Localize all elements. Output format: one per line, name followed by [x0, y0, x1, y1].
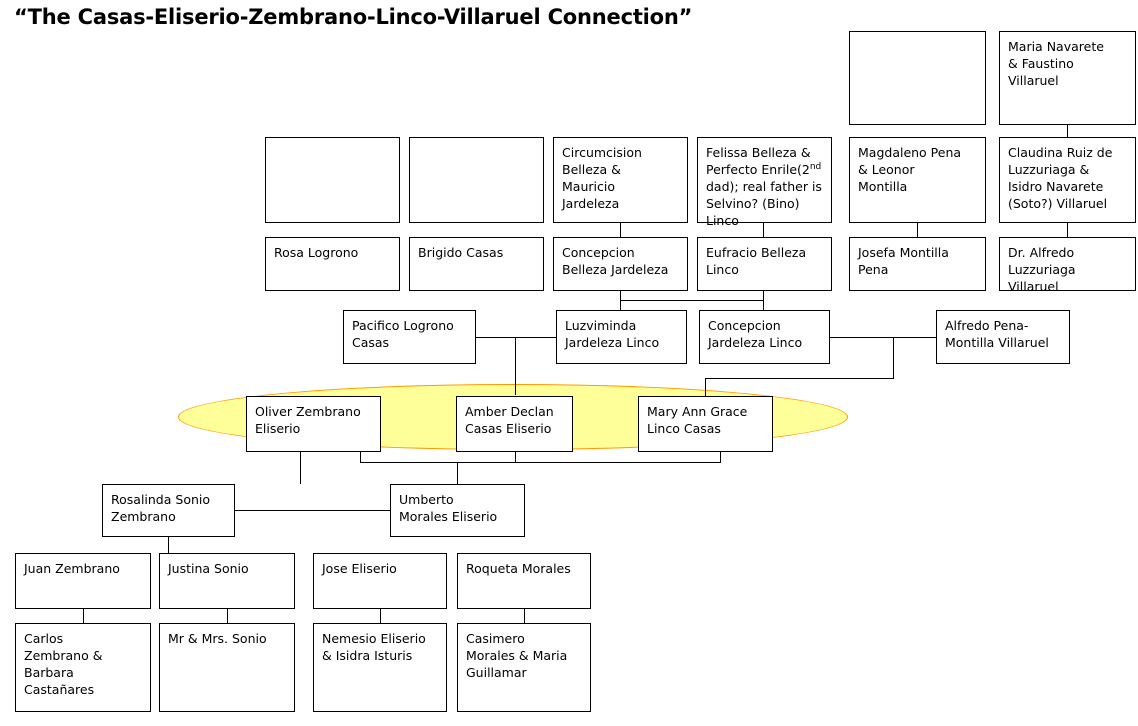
family-tree-canvas: “The Casas-Eliserio-Zembrano-Linco-Villa… — [0, 0, 1138, 726]
node-umberto-morales-eliserio[interactable]: Umberto Morales Eliserio — [390, 484, 525, 537]
node-mr-mrs-sonio[interactable]: Mr & Mrs. Sonio — [159, 623, 295, 712]
node-eufracio-belleza-linco[interactable]: Eufracio Belleza Linco — [697, 237, 832, 291]
node-claudina-ruiz[interactable]: Claudina Ruiz de Luzzuriaga & Isidro Nav… — [999, 137, 1136, 223]
node-carlos-zembrano-barbara[interactable]: Carlos Zembrano & Barbara Castañares — [15, 623, 151, 712]
connector-line — [620, 300, 764, 301]
connector-line — [83, 609, 84, 623]
connector-line — [380, 609, 381, 623]
node-josefa-montilla-pena[interactable]: Josefa Montilla Pena — [849, 237, 986, 291]
node-magdaleno-pena[interactable]: Magdaleno Pena & Leonor Montilla — [849, 137, 986, 223]
node-amber-declan-casas-eliserio[interactable]: Amber Declan Casas Eliserio — [456, 396, 573, 452]
felissa-text-pre: Felissa Belleza & Perfecto Enrile(2 — [706, 145, 811, 177]
connector-line — [300, 452, 301, 484]
connector-line — [227, 609, 228, 623]
felissa-ordinal-superscript: nd — [810, 162, 821, 172]
node-pacifico-logrono-casas[interactable]: Pacifico Logrono Casas — [343, 310, 476, 364]
node-brigido-casas[interactable]: Brigido Casas — [409, 237, 544, 291]
node-rosa-logrono[interactable]: Rosa Logrono — [265, 237, 400, 291]
connector-line — [620, 300, 621, 310]
connector-line — [524, 609, 525, 623]
connector-line — [235, 510, 390, 511]
node-empty-top-left[interactable] — [849, 31, 986, 125]
connector-line — [360, 452, 361, 463]
connector-line — [705, 378, 894, 379]
node-concepcion-belleza-jardeleza[interactable]: Concepcion Belleza Jardeleza — [553, 237, 688, 291]
connector-line — [763, 300, 764, 310]
connector-line — [360, 462, 720, 463]
connector-line — [457, 462, 458, 484]
node-maria-faustino[interactable]: Maria Navarete & Faustino Villaruel — [999, 31, 1136, 125]
connector-line — [917, 223, 918, 237]
connector-line — [620, 223, 621, 237]
felissa-text-post: dad); real father is Selvino? (Bino) Lin… — [706, 179, 822, 228]
connector-line — [1067, 223, 1068, 237]
connector-line — [720, 452, 721, 463]
connector-line — [476, 337, 556, 338]
node-oliver-zembrano-eliserio[interactable]: Oliver Zembrano Eliserio — [246, 396, 381, 452]
node-jose-eliserio[interactable]: Jose Eliserio — [313, 553, 447, 609]
node-rosalinda-sonio-zembrano[interactable]: Rosalinda Sonio Zembrano — [102, 484, 235, 537]
page-title: “The Casas-Eliserio-Zembrano-Linco-Villa… — [14, 5, 692, 29]
connector-line — [763, 223, 764, 237]
node-nemesio-eliserio-isidra[interactable]: Nemesio Eliserio & Isidra Isturis — [313, 623, 447, 712]
node-casimero-morales-maria[interactable]: Casimero Morales & Maria Guillamar — [457, 623, 591, 712]
connector-line — [893, 337, 894, 378]
node-empty-row2-b[interactable] — [409, 137, 544, 223]
node-concepcion-jardeleza-linco[interactable]: Concepcion Jardeleza Linco — [699, 310, 830, 364]
connector-line — [705, 378, 706, 396]
node-empty-row2-a[interactable] — [265, 137, 400, 223]
connector-line — [515, 337, 516, 395]
node-alfredo-pena-montilla[interactable]: Alfredo Pena- Montilla Villaruel — [936, 310, 1070, 364]
node-juan-zembrano[interactable]: Juan Zembrano — [15, 553, 151, 609]
node-mary-ann-grace-linco-casas[interactable]: Mary Ann Grace Linco Casas — [638, 396, 773, 452]
node-felissa-belleza[interactable]: Felissa Belleza & Perfecto Enrile(2nd da… — [697, 137, 832, 223]
node-justina-sonio[interactable]: Justina Sonio — [159, 553, 295, 609]
node-circumcision-belleza[interactable]: Circumcision Belleza & Mauricio Jardelez… — [553, 137, 688, 223]
node-roqueta-morales[interactable]: Roqueta Morales — [457, 553, 591, 609]
node-dr-alfredo-luzzuriaga[interactable]: Dr. Alfredo Luzzuriaga Villaruel — [999, 237, 1136, 291]
connector-line — [168, 537, 169, 553]
node-luzviminda-jardeleza-linco[interactable]: Luzviminda Jardeleza Linco — [556, 310, 687, 364]
connector-line — [830, 337, 936, 338]
connector-line — [515, 452, 516, 463]
